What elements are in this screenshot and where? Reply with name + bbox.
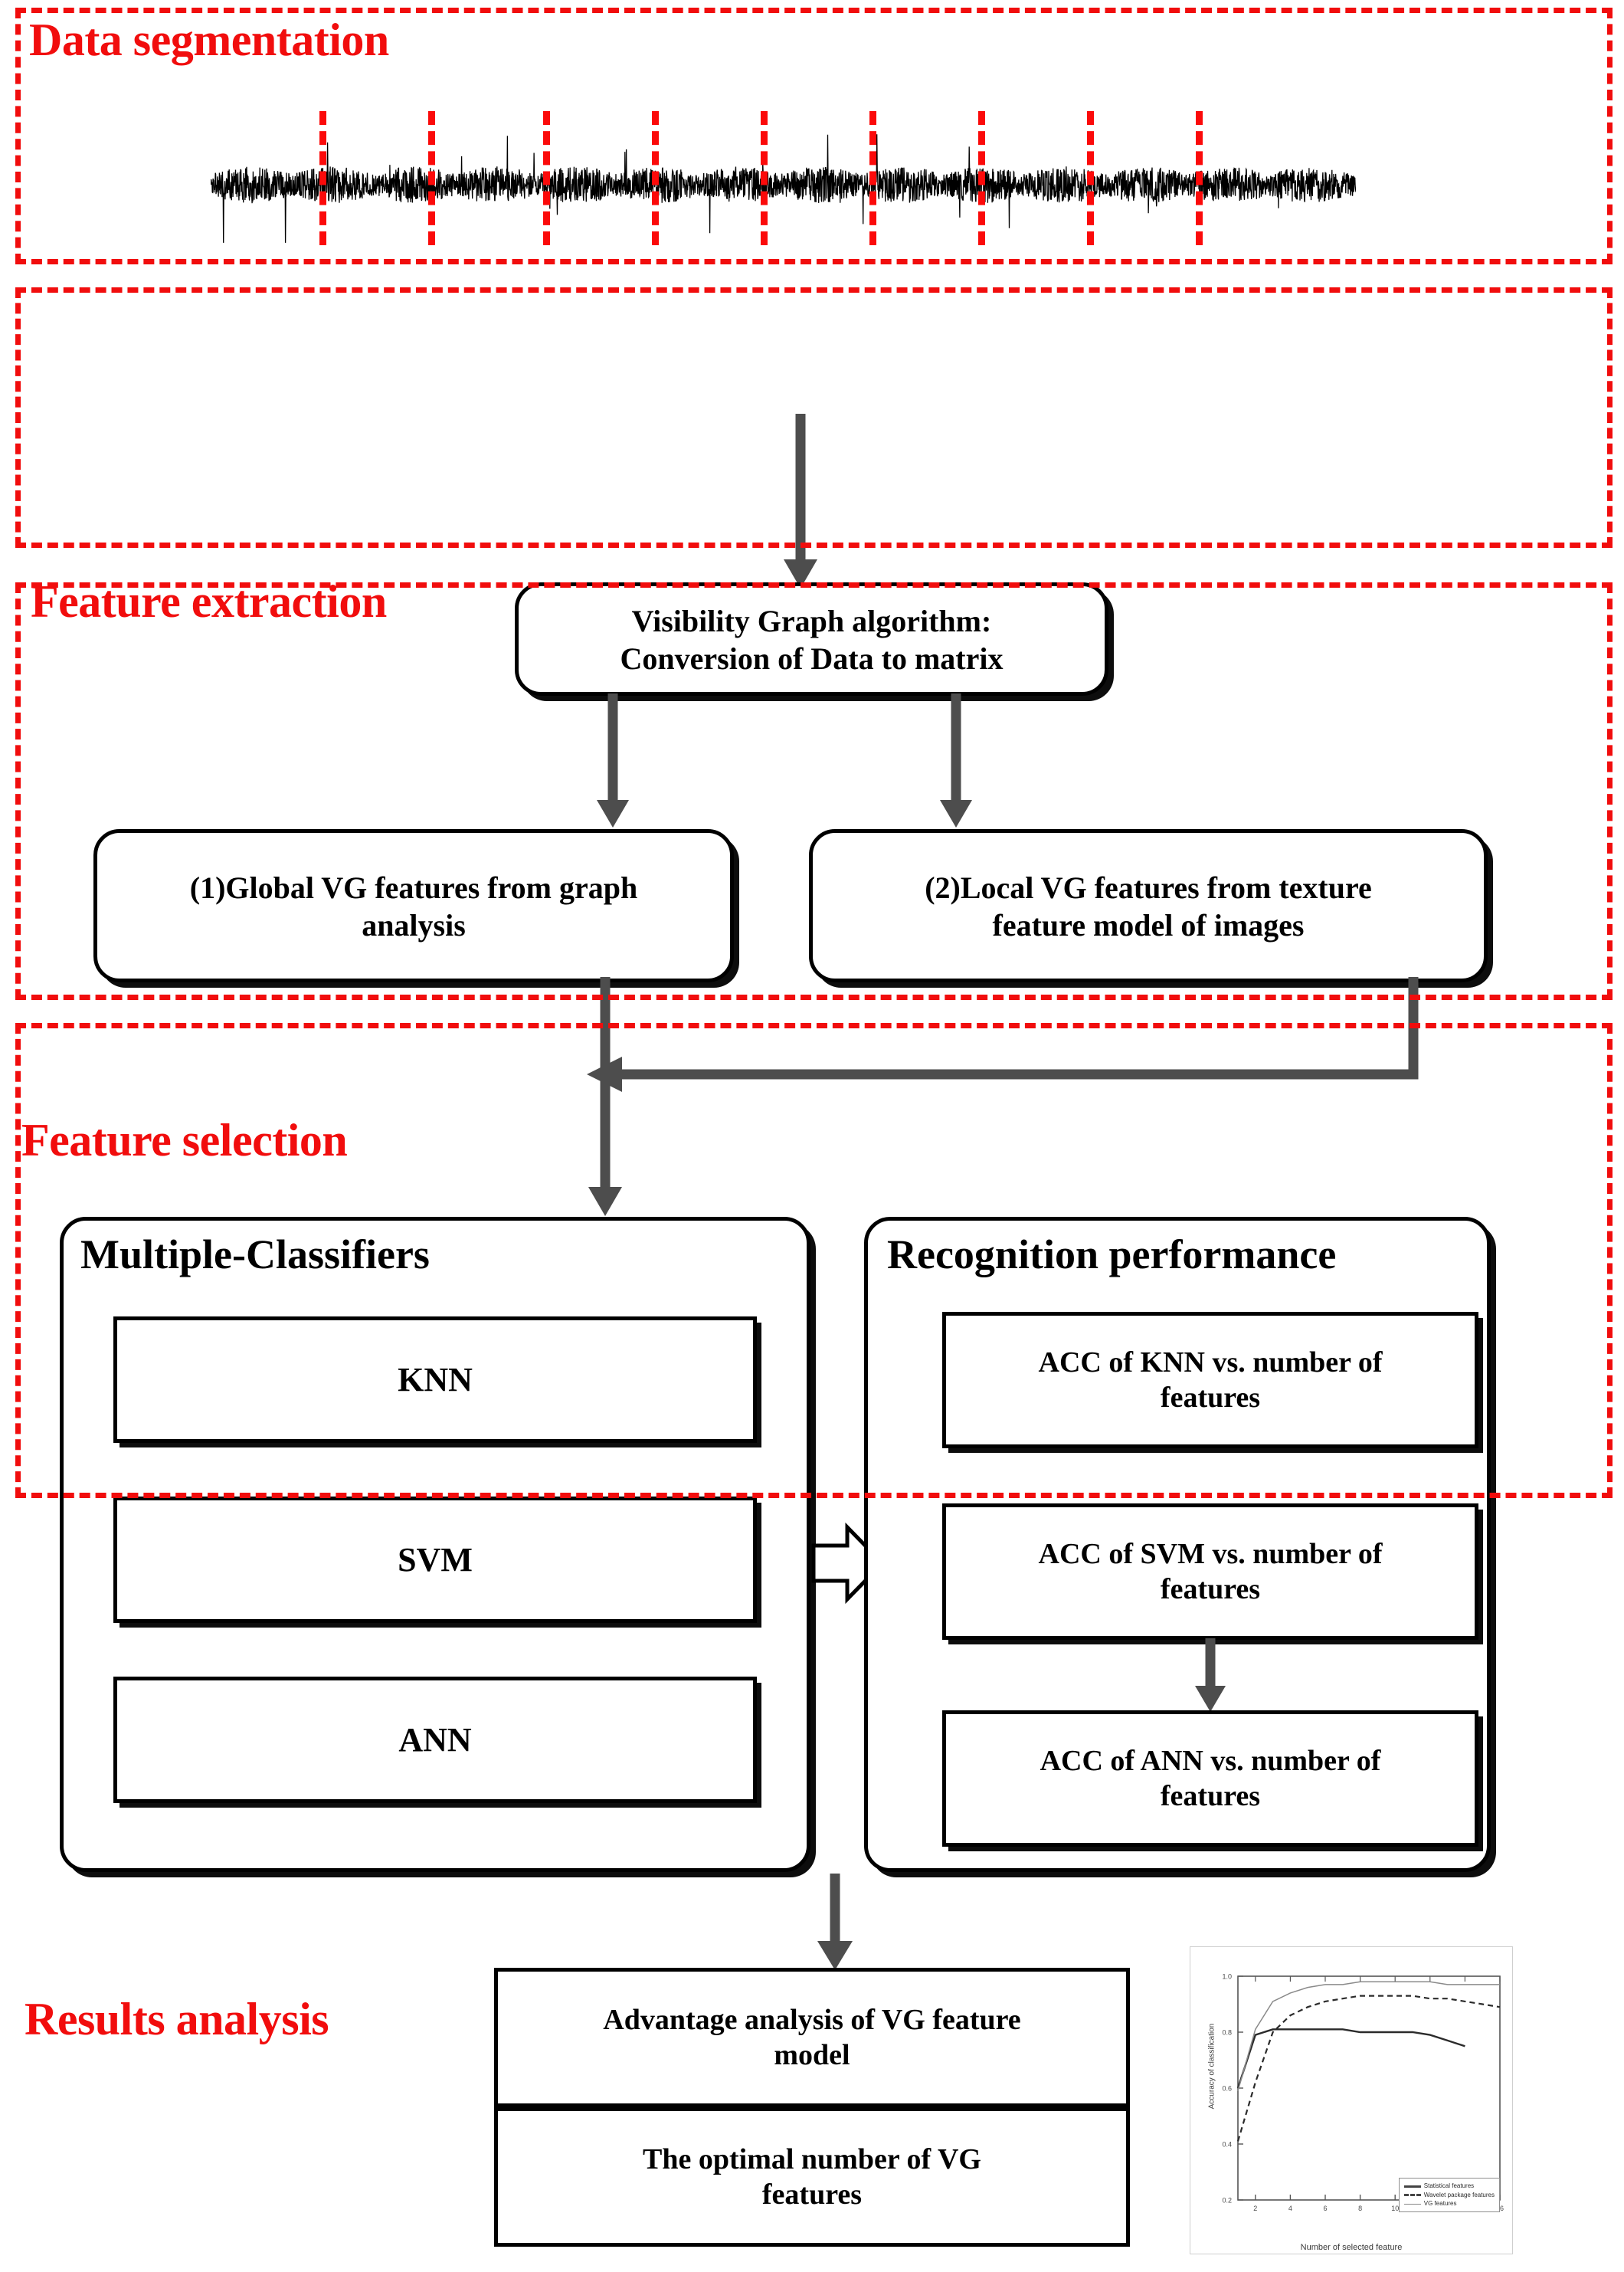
signal-waveform-svg	[211, 111, 1356, 245]
results-advantage-line2: model	[603, 2038, 1020, 2073]
results-optimal-line2: features	[643, 2177, 981, 2212]
results-advantage-text: Advantage analysis of VG feature model	[591, 2002, 1033, 2074]
results-optimal-line1: The optimal number of VG	[643, 2142, 981, 2177]
segment-divider	[761, 111, 768, 245]
classifier-box-ann[interactable]: ANN	[113, 1677, 757, 1803]
stage-feature-selection	[15, 582, 1613, 1000]
stage-feature-extraction	[15, 287, 1613, 548]
segment-divider	[1087, 111, 1094, 245]
svg-text:0.6: 0.6	[1222, 2085, 1232, 2093]
svg-text:0.2: 0.2	[1222, 2197, 1232, 2205]
segment-divider	[978, 111, 985, 245]
signal-waveform-plot	[211, 111, 1356, 245]
results-box-optimal-number[interactable]: The optimal number of VG features	[494, 2107, 1130, 2247]
legend-item-wavelet: Wavelet package features	[1404, 2191, 1495, 2200]
mini-chart-legend: Statistical features Wavelet package fea…	[1399, 2178, 1500, 2212]
stage-label-data-segmentation: Data segmentation	[29, 17, 389, 63]
segment-divider	[319, 111, 326, 245]
stage-label-results-analysis: Results analysis	[25, 1996, 329, 2042]
legend-swatch-wavelet	[1404, 2194, 1421, 2196]
performance-svm-line1: ACC of SVM vs. number of	[1039, 1536, 1383, 1572]
arrow-selection-to-results	[812, 1874, 866, 1973]
legend-item-vg: VG features	[1404, 2199, 1495, 2208]
segment-divider	[869, 111, 876, 245]
classifier-label-ann: ANN	[386, 1720, 483, 1761]
segment-divider	[428, 111, 435, 245]
performance-ann-line2: features	[1040, 1779, 1381, 1814]
performance-text-ann: ACC of ANN vs. number of features	[1028, 1743, 1393, 1815]
svg-text:0.4: 0.4	[1222, 2141, 1232, 2149]
legend-swatch-vg	[1404, 2204, 1421, 2205]
mini-chart-ylabel: Accuracy of classification	[1208, 1998, 1216, 2136]
performance-text-svm: ACC of SVM vs. number of features	[1026, 1536, 1395, 1608]
legend-label-wavelet: Wavelet package features	[1424, 2191, 1495, 2200]
results-box-advantage-analysis[interactable]: Advantage analysis of VG feature model	[494, 1968, 1130, 2107]
legend-swatch-statistical	[1404, 2185, 1421, 2188]
classifier-box-svm[interactable]: SVM	[113, 1497, 757, 1623]
svg-text:8: 8	[1358, 2205, 1362, 2212]
segment-divider	[652, 111, 659, 245]
svg-text:0.8: 0.8	[1222, 2029, 1232, 2037]
segment-divider	[543, 111, 550, 245]
svg-text:1.0: 1.0	[1222, 1973, 1232, 1981]
svg-text:10: 10	[1391, 2205, 1399, 2212]
performance-box-ann[interactable]: ACC of ANN vs. number of features	[942, 1710, 1478, 1847]
legend-label-vg: VG features	[1424, 2199, 1457, 2208]
svg-text:6: 6	[1323, 2205, 1327, 2212]
svg-text:2: 2	[1253, 2205, 1257, 2212]
performance-box-svm[interactable]: ACC of SVM vs. number of features	[942, 1503, 1478, 1640]
performance-svm-line2: features	[1039, 1572, 1383, 1607]
mini-chart-xlabel: Number of selected feature	[1190, 2243, 1512, 2252]
segment-divider	[1196, 111, 1203, 245]
performance-ann-line1: ACC of ANN vs. number of	[1040, 1743, 1381, 1779]
legend-item-statistical: Statistical features	[1404, 2182, 1495, 2191]
stage-results-analysis	[15, 1023, 1613, 1498]
results-optimal-text: The optimal number of VG features	[630, 2142, 994, 2213]
svg-text:4: 4	[1288, 2205, 1292, 2212]
classifier-label-svm: SVM	[385, 1539, 485, 1581]
legend-label-statistical: Statistical features	[1424, 2182, 1474, 2191]
results-advantage-line1: Advantage analysis of VG feature	[603, 2002, 1020, 2038]
accuracy-vs-features-chart: 0.20.40.60.81.0246810121416 Number of se…	[1190, 1946, 1513, 2254]
